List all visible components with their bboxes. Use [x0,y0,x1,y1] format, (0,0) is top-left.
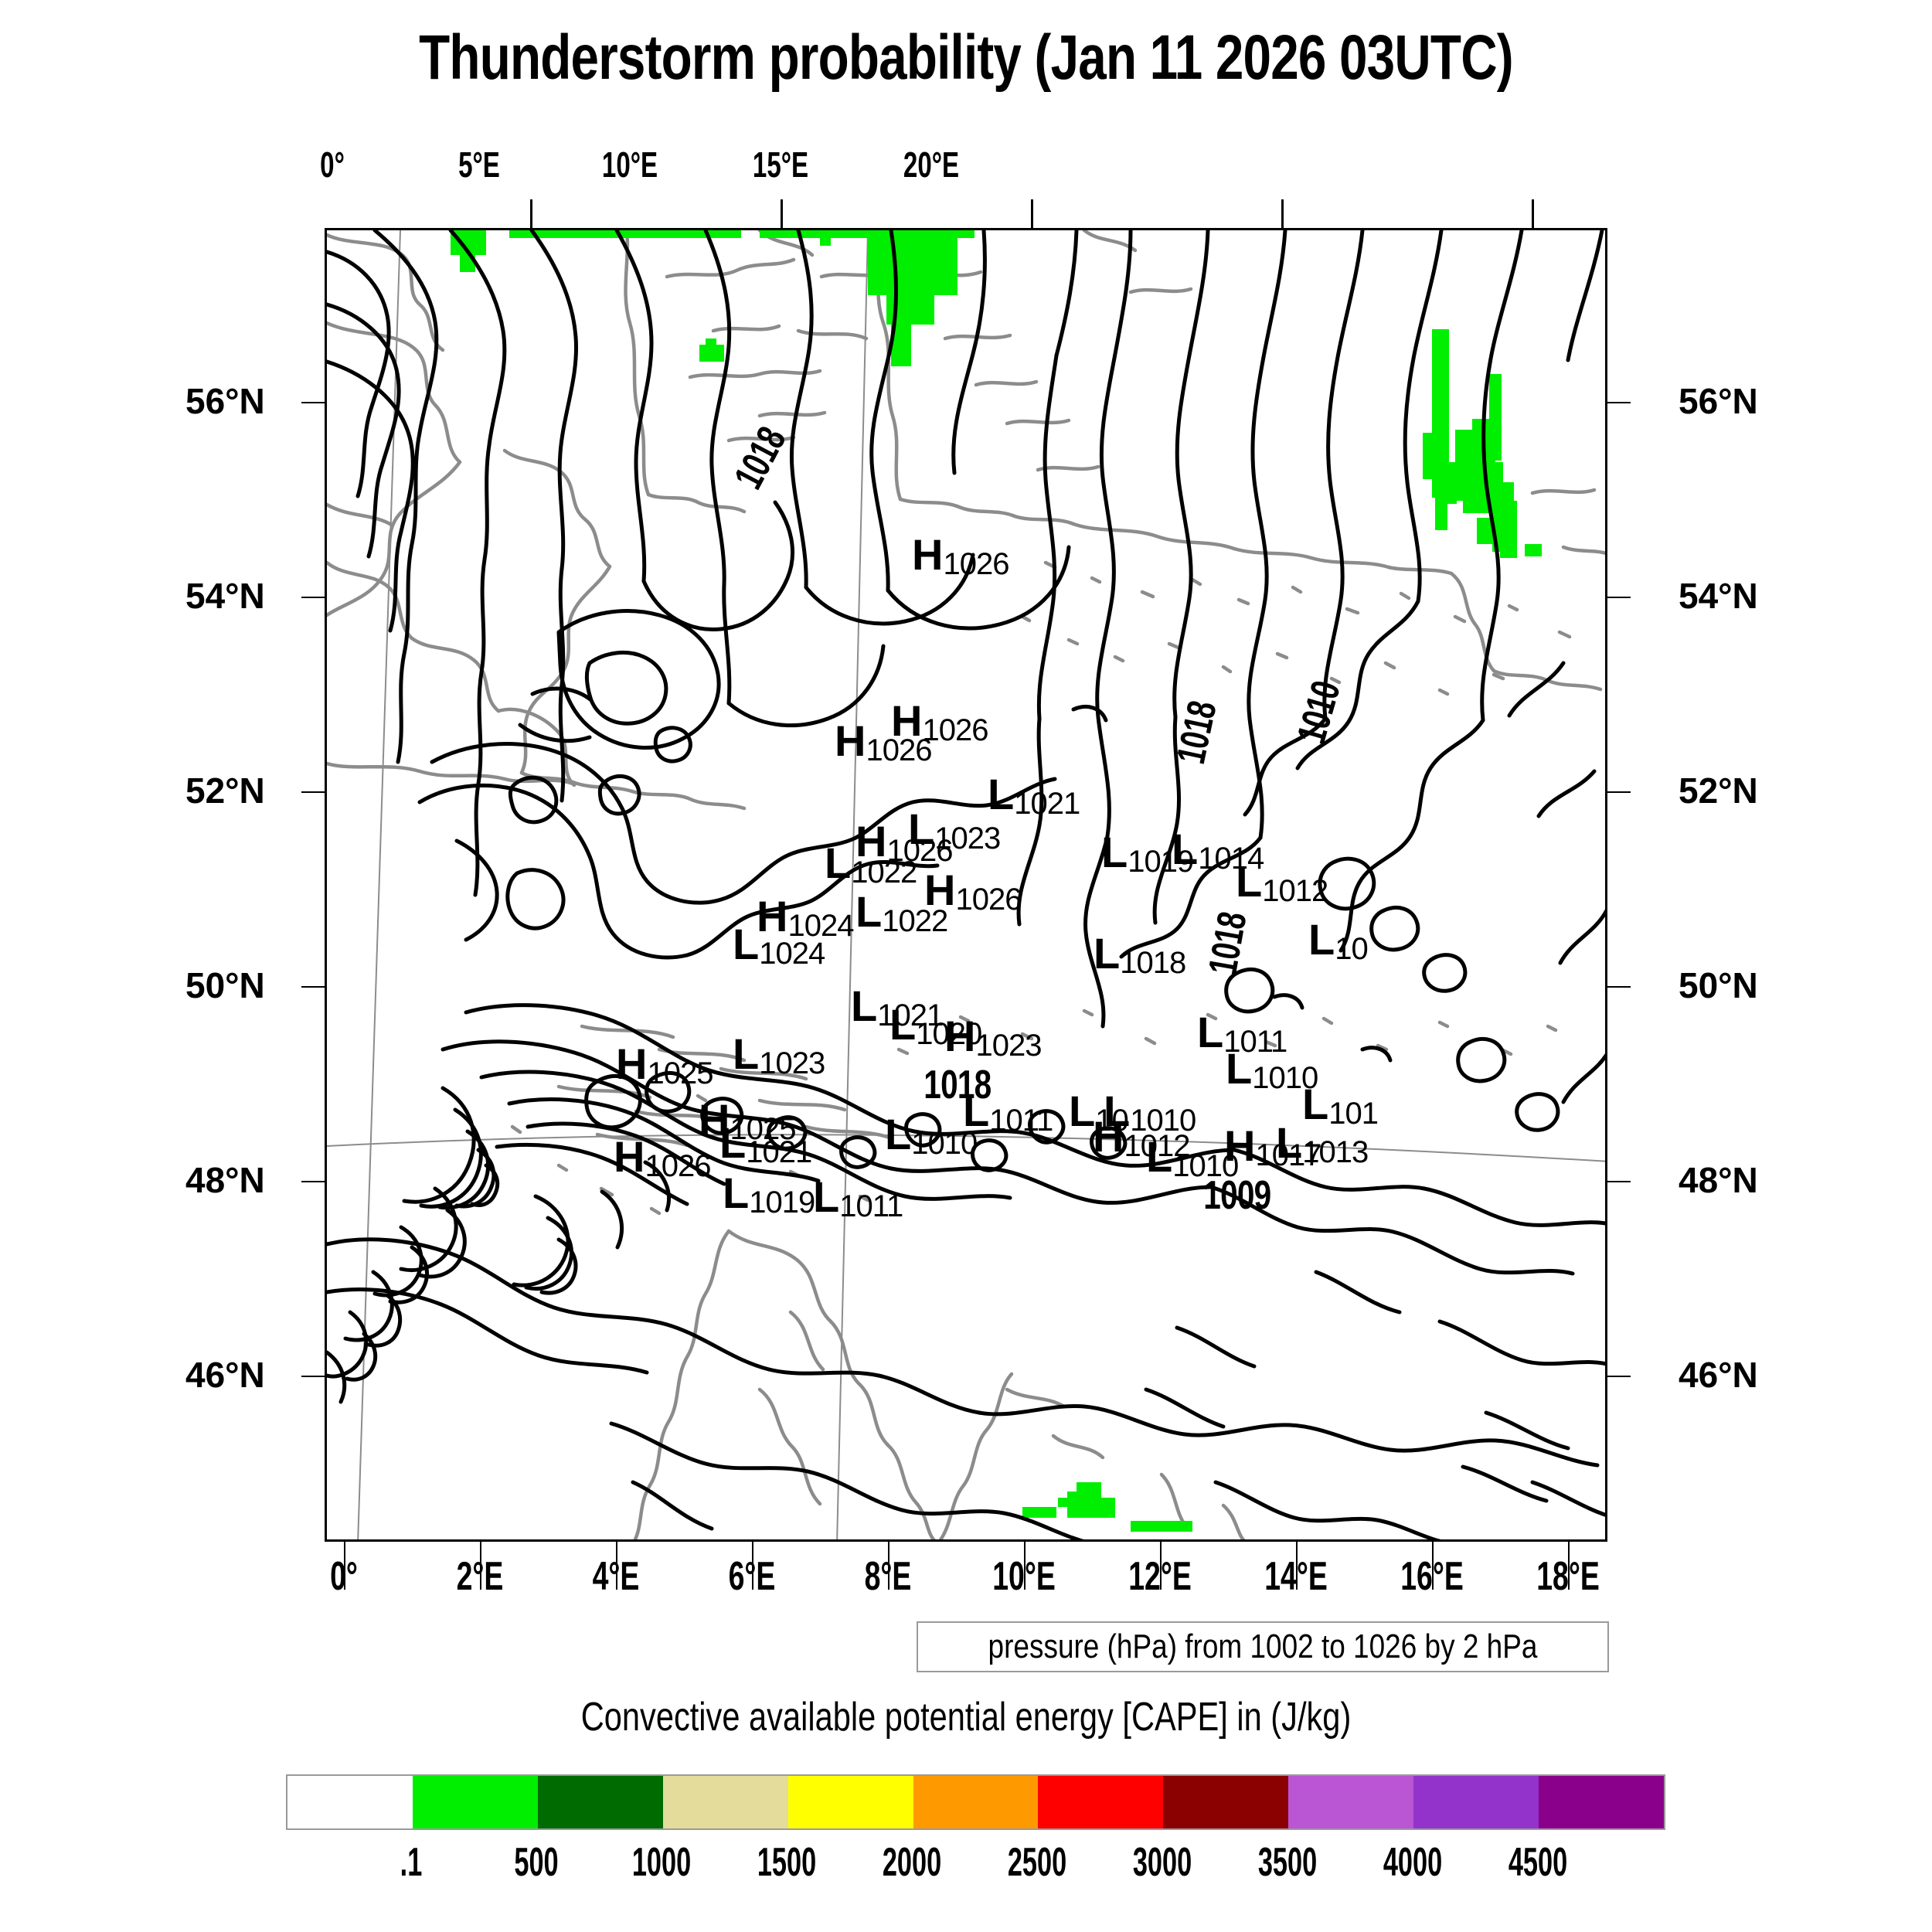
pressure-center-letter: H [944,1012,975,1060]
right-axis-label: 50°N [1679,964,1758,1006]
pressure-center-low: L1021 [719,1117,811,1170]
pressure-center-letter: L [813,1172,839,1221]
pressure-legend-text: pressure (hPa) from 1002 to 1026 by 2 hP… [973,1623,1552,1671]
top-axis-tick [781,199,783,229]
pressure-center-value: 1026 [955,883,1021,917]
colorbar-cell [1413,1776,1539,1828]
pressure-center-letter: L [723,1168,749,1217]
bottom-axis-label: 14°E [1263,1553,1329,1600]
left-axis-tick [301,1376,326,1377]
pressure-center-low: L1013 [1276,1117,1368,1170]
pressure-center-value: 1026 [943,547,1009,581]
left-axis-label: 54°N [185,575,265,617]
pressure-center-letter: H [614,1132,645,1181]
pressure-center-low: L1012 [1236,856,1328,909]
colorbar-cell [1288,1776,1413,1828]
pressure-center-letter: L [1276,1118,1302,1167]
pressure-center-value: 1010 [911,1127,977,1161]
left-axis-label: 52°N [185,770,265,811]
top-axis-label: 5°E [446,144,512,185]
left-axis-label: 48°N [185,1159,265,1201]
pressure-center-letter: L [1069,1087,1095,1135]
colorbar-cell [413,1776,538,1828]
pressure-center-letter: L [1226,1044,1252,1093]
pressure-center-letter: L [1094,929,1120,978]
top-axis-tick [1281,199,1284,229]
left-axis-tick [301,402,326,403]
right-axis-label: 48°N [1679,1159,1758,1201]
pressure-center-high: H1023 [944,1011,1041,1063]
left-axis-label: 50°N [185,964,265,1006]
top-axis-label: 20°E [898,144,964,185]
left-axis-tick [301,986,326,988]
right-axis-tick [1606,402,1631,403]
colorbar-cell [1539,1776,1664,1828]
bottom-axis-label: 18°E [1535,1553,1601,1600]
colorbar-tick-label: 500 [495,1839,577,1886]
pressure-center-value: 1019 [749,1185,815,1219]
pressure-center-letter: L [825,838,851,887]
pressure-center-value: 1023 [759,1046,825,1080]
pressure-center-low: L1018 [1094,928,1185,981]
pressure-center-low: L1011 [813,1172,903,1224]
right-axis-tick [1606,597,1631,598]
top-axis-tick [1532,199,1534,229]
pressure-center-high: H1026 [614,1131,710,1184]
pressure-center-value: 1010 [1172,1149,1238,1183]
pressure-center-letter: L [1146,1132,1172,1181]
top-axis-tick [1031,199,1033,229]
pressure-center-letter: H [835,716,866,765]
pressure-center-letter: L [1197,1008,1223,1056]
colorbar-tick-label: 4500 [1497,1839,1579,1886]
pressure-center-value: 1011 [989,1104,1053,1138]
pressure-center-low: L1010 [1146,1131,1238,1184]
colorbar-tick-label: 2500 [996,1839,1078,1886]
bottom-axis-label: 12°E [1127,1553,1193,1600]
pressure-center-letter: H [912,530,943,579]
pressure-center-letter: H [616,1039,647,1088]
pressure-center-letter: L [851,981,877,1030]
top-axis-label: 0° [299,144,366,185]
bottom-axis-label: 10°E [991,1553,1057,1600]
right-axis-tick [1606,791,1631,793]
left-axis-tick [301,791,326,793]
right-axis-label: 46°N [1679,1354,1758,1396]
colorbar-cell [1163,1776,1288,1828]
pressure-center-letter: L [855,887,882,936]
pressure-center-value: 1026 [645,1149,710,1183]
colorbar-tick-label: .1 [370,1839,452,1886]
bottom-axis-label: 2°E [447,1553,513,1600]
right-axis-label: 54°N [1679,575,1758,617]
bottom-axis-label: 6°E [719,1553,785,1600]
pressure-center-value: 1022 [882,904,947,938]
pressure-center-low: L1022 [855,886,947,939]
colorbar-tick-label: 2000 [871,1839,953,1886]
right-axis-label: 52°N [1679,770,1758,811]
bottom-axis-label: 16°E [1399,1553,1465,1600]
top-axis-label: 15°E [747,144,814,185]
colorbar-cell [913,1776,1039,1828]
colorbar-tick-label: 4000 [1372,1839,1454,1886]
colorbar-cell [788,1776,913,1828]
pressure-center-letter: L [733,920,759,968]
pressure-legend-box: pressure (hPa) from 1002 to 1026 by 2 hP… [917,1621,1609,1672]
pressure-center-value: 1026 [866,733,931,767]
pressure-center-letter: L [1308,915,1335,964]
pressure-center-letter: H [1093,1112,1124,1161]
pressure-center-letter: L [733,1029,759,1078]
top-axis-tick [530,199,532,229]
pressure-center-low: L1010 [885,1109,977,1162]
pressure-center-letter: L [1101,828,1128,876]
bottom-axis-label: 4°E [583,1553,649,1600]
pressure-center-value: 1023 [975,1029,1041,1063]
colorbar-tick-label: 3500 [1247,1839,1328,1886]
pressure-center-high: H1026 [912,529,1009,582]
left-axis-tick [301,597,326,598]
pressure-center-value: 10 [1335,932,1368,966]
pressure-center-letter: L [885,1110,911,1158]
left-axis-tick [301,1181,326,1182]
pressure-center-value: 1025 [647,1056,713,1090]
top-axis-label: 10°E [597,144,663,185]
pressure-center-letter: L [719,1118,746,1167]
pressure-center-low: L1019 [723,1168,815,1220]
pressure-center-letter: L [889,1000,916,1049]
colorbar-tick-label: 3000 [1121,1839,1203,1886]
pressure-center-value: 1024 [759,937,825,971]
pressure-center-low: L1023 [733,1029,825,1081]
pressure-center-low: L1024 [733,919,825,971]
left-axis-label: 46°N [185,1354,265,1396]
pressure-center-value: 1011 [839,1189,903,1223]
right-axis-label: 56°N [1679,380,1758,422]
pressure-center-letter: L [1236,857,1262,906]
colorbar-tick-label: 1500 [746,1839,828,1886]
pressure-center-low: L1022 [825,838,917,890]
pressure-center-low: L10 [1308,914,1368,967]
bottom-axis-label: 0° [311,1553,377,1600]
right-axis-tick [1606,1181,1631,1182]
pressure-center-high: H1025 [616,1039,713,1091]
cape-colorbar[interactable] [286,1774,1665,1830]
pressure-center-value: 1021 [1014,787,1080,821]
pressure-center-value: 1012 [1262,874,1328,908]
pressure-center-value: 1022 [851,855,917,889]
page-title: Thunderstorm probability (Jan 11 2026 03… [193,22,1739,94]
right-axis-tick [1606,1376,1631,1377]
colorbar-cell [1038,1776,1163,1828]
colorbar-cell [663,1776,788,1828]
colorbar-tick-labels: .1 500 1000 1500 2000 2500 3000 3500 400… [286,1839,1665,1886]
colorbar-cell [287,1776,413,1828]
pressure-center-value: 1026 [922,713,988,747]
pressure-center-value: 1013 [1302,1135,1368,1169]
colorbar-caption: Convective available potential energy [C… [193,1694,1739,1740]
right-axis-tick [1606,986,1631,988]
colorbar-cell [538,1776,663,1828]
map-plot-area[interactable]: 1018 1018 1010 1018 1018 1009 H1026 H102… [325,228,1607,1542]
pressure-center-value: 1021 [746,1135,811,1169]
bottom-axis-label: 8°E [855,1553,921,1600]
left-axis-label: 56°N [185,380,265,422]
pressure-center-low: L1021 [988,769,1080,821]
colorbar-tick-label: 1000 [621,1839,702,1886]
pressure-center-value: 1018 [1120,946,1185,980]
pressure-center-letter: L [1172,825,1198,873]
pressure-center-high: H1026 [835,716,931,768]
